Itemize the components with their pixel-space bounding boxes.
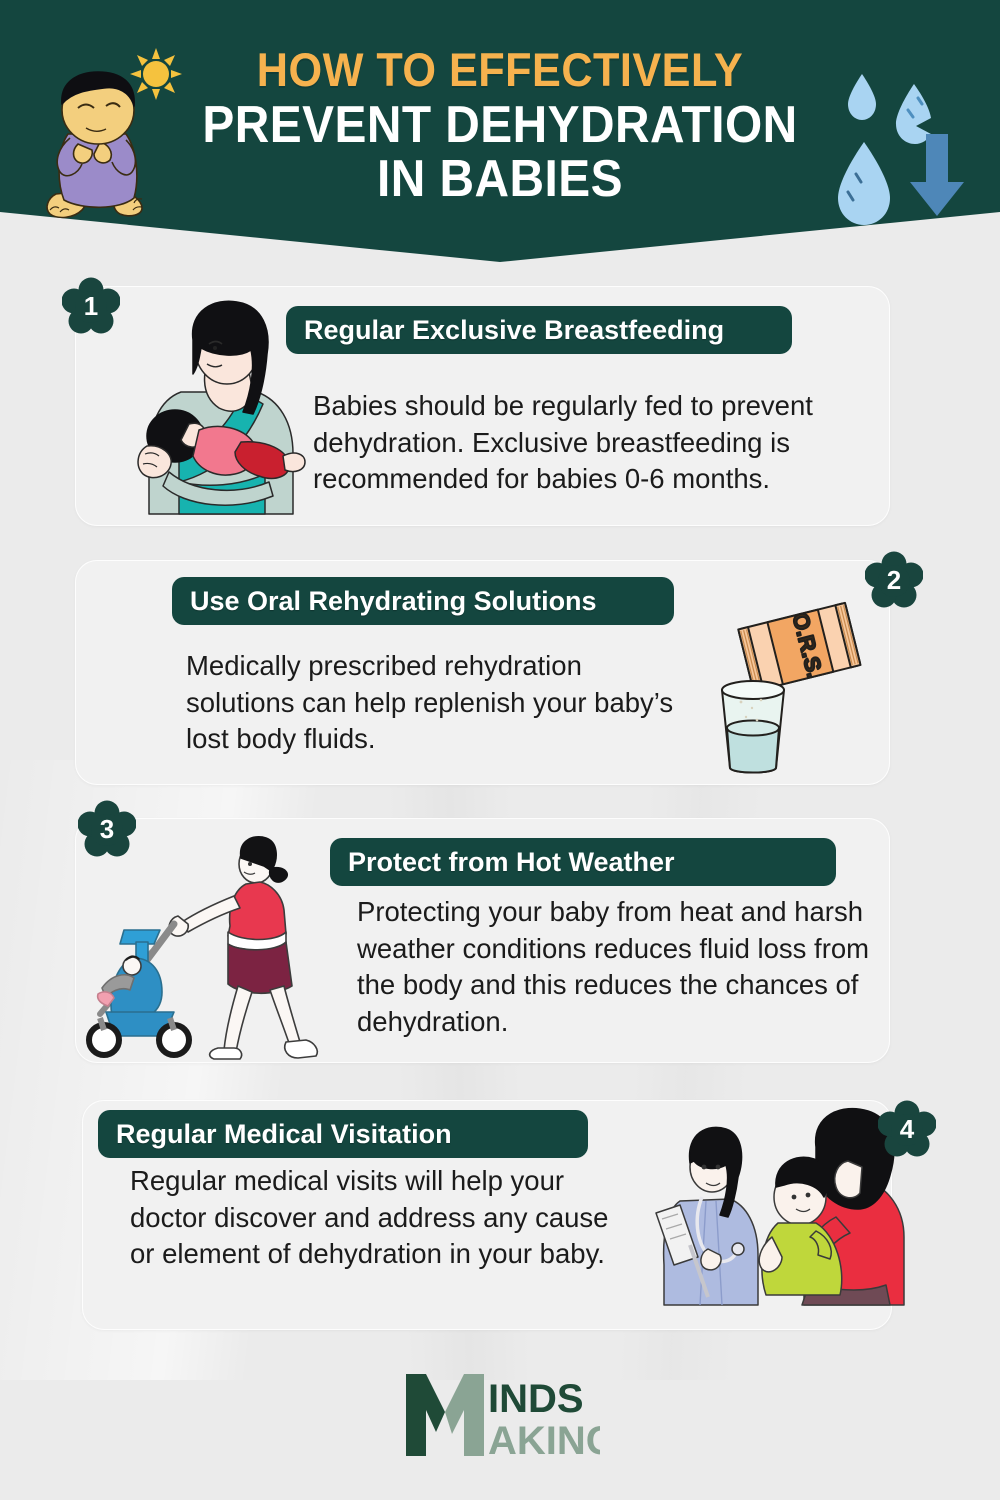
brand-logo: INDS AKING MINDS MAKING [0,1368,1000,1465]
card-1-number-badge [62,277,120,335]
logo-word-top: INDS [488,1377,584,1421]
card-1-body: Babies should be regularly fed to preven… [313,388,823,498]
card-1-heading-pill: Regular Exclusive Breastfeeding [286,306,792,354]
title-line-3: IN BABIES [40,153,960,206]
logo-full-name: MINDS MAKING [600,1368,601,1369]
card-4-heading-pill: Regular Medical Visitation [98,1110,588,1158]
card-2-number-badge [865,551,923,609]
card-3-heading-pill: Protect from Hot Weather [330,838,836,886]
ors-packet-and-glass-illustration: O.R.S. [686,586,876,776]
header-banner: HOW TO EFFECTIVELY PREVENT DEHYDRATION I… [0,0,1000,262]
card-2-body: Medically prescribed rehydration solutio… [186,648,676,758]
logo-word-bottom: AKING [488,1419,600,1460]
header-title: HOW TO EFFECTIVELY PREVENT DEHYDRATION I… [0,46,1000,206]
minds-making-logo: INDS AKING [400,1368,600,1460]
card-3-heading: Protect from Hot Weather [348,847,675,878]
card-4-heading: Regular Medical Visitation [116,1119,452,1150]
infographic-page: HOW TO EFFECTIVELY PREVENT DEHYDRATION I… [0,0,1000,1500]
card-2-heading-pill: Use Oral Rehydrating Solutions [172,577,674,625]
title-line-1: HOW TO EFFECTIVELY [40,46,960,94]
card-2-heading: Use Oral Rehydrating Solutions [190,586,597,617]
card-4-number-badge [878,1100,936,1158]
card-3-number-badge [78,800,136,858]
logo-letter-m [406,1374,484,1456]
title-line-2: PREVENT DEHYDRATION [40,99,960,152]
card-3-body: Protecting your baby from heat and harsh… [357,894,879,1040]
doctor-examining-baby-illustration [650,1105,910,1315]
card-1-heading: Regular Exclusive Breastfeeding [304,315,724,346]
mother-pushing-stroller-illustration [78,832,328,1062]
card-4-body: Regular medical visits will help your do… [130,1163,610,1273]
